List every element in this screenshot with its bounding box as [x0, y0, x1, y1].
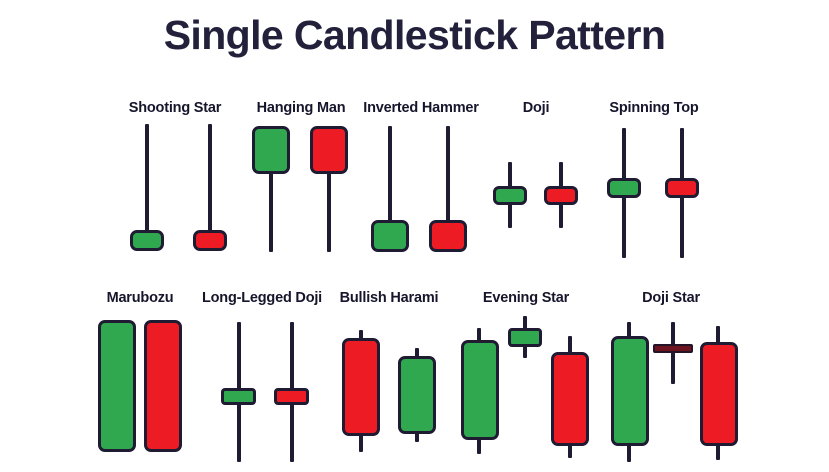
- candlestick-pattern-infographic: Single Candlestick Pattern Shooting Star…: [0, 0, 829, 472]
- pattern-chart-shooting-star: [108, 124, 242, 260]
- candle-wick: [388, 126, 392, 224]
- pattern-doji: Doji: [482, 100, 590, 260]
- pattern-label-spinning-top: Spinning Top: [592, 100, 716, 116]
- candle-wick: [145, 124, 149, 232]
- pattern-spinning-top: Spinning Top: [592, 100, 716, 264]
- pattern-chart-inverted-hammer: [356, 124, 486, 260]
- pattern-evening-star: Evening Star: [450, 290, 602, 472]
- candle-wick: [269, 168, 273, 252]
- candle-body: [221, 388, 256, 405]
- candle-body: [508, 328, 542, 347]
- candle-body: [665, 178, 699, 198]
- candle-body: [611, 336, 649, 446]
- pattern-shooting-star: Shooting Star: [108, 100, 242, 260]
- candle-body: [274, 388, 309, 405]
- candle-wick: [446, 126, 450, 224]
- pattern-chart-bullish-harami: [330, 316, 448, 470]
- pattern-marubozu: Marubozu: [88, 290, 192, 470]
- candle-body: [98, 320, 136, 452]
- pattern-chart-doji-star: [596, 316, 746, 472]
- pattern-chart-spinning-top: [592, 124, 716, 264]
- pattern-label-bullish-harami: Bullish Harami: [330, 290, 448, 306]
- pattern-doji-star: Doji Star: [596, 290, 746, 472]
- candle-body: [310, 126, 348, 174]
- page-title: Single Candlestick Pattern: [0, 12, 829, 59]
- candle-wick: [327, 168, 331, 252]
- candle-body: [544, 186, 578, 205]
- candle-body: [493, 186, 527, 205]
- candle-body: [144, 320, 182, 452]
- candle-body: [700, 342, 738, 446]
- candle-body: [607, 178, 641, 198]
- pattern-chart-marubozu: [88, 316, 192, 470]
- pattern-bullish-harami: Bullish Harami: [330, 290, 448, 470]
- candle-body: [429, 220, 467, 252]
- pattern-label-shooting-star: Shooting Star: [108, 100, 242, 116]
- candle-body: [398, 356, 436, 434]
- pattern-long-legged-doji: Long-Legged Doji: [192, 290, 332, 470]
- pattern-hanging-man: Hanging Man: [240, 100, 362, 260]
- pattern-label-inverted-hammer: Inverted Hammer: [356, 100, 486, 116]
- pattern-chart-doji: [482, 124, 590, 260]
- pattern-label-long-legged-doji: Long-Legged Doji: [192, 290, 332, 306]
- pattern-inverted-hammer: Inverted Hammer: [356, 100, 486, 260]
- pattern-label-evening-star: Evening Star: [450, 290, 602, 306]
- pattern-chart-evening-star: [450, 316, 602, 472]
- candle-body: [130, 230, 164, 251]
- pattern-label-doji-star: Doji Star: [596, 290, 746, 306]
- pattern-label-hanging-man: Hanging Man: [240, 100, 362, 116]
- candle-body: [252, 126, 290, 174]
- pattern-label-doji: Doji: [482, 100, 590, 116]
- candle-body: [342, 338, 380, 436]
- pattern-label-marubozu: Marubozu: [88, 290, 192, 306]
- pattern-chart-long-legged-doji: [192, 316, 332, 470]
- candle-body: [551, 352, 589, 446]
- candle-body: [193, 230, 227, 251]
- candle-wick: [671, 322, 675, 384]
- pattern-chart-hanging-man: [240, 124, 362, 260]
- candle-body: [461, 340, 499, 440]
- candle-body: [653, 344, 693, 353]
- candle-wick: [208, 124, 212, 232]
- candle-body: [371, 220, 409, 252]
